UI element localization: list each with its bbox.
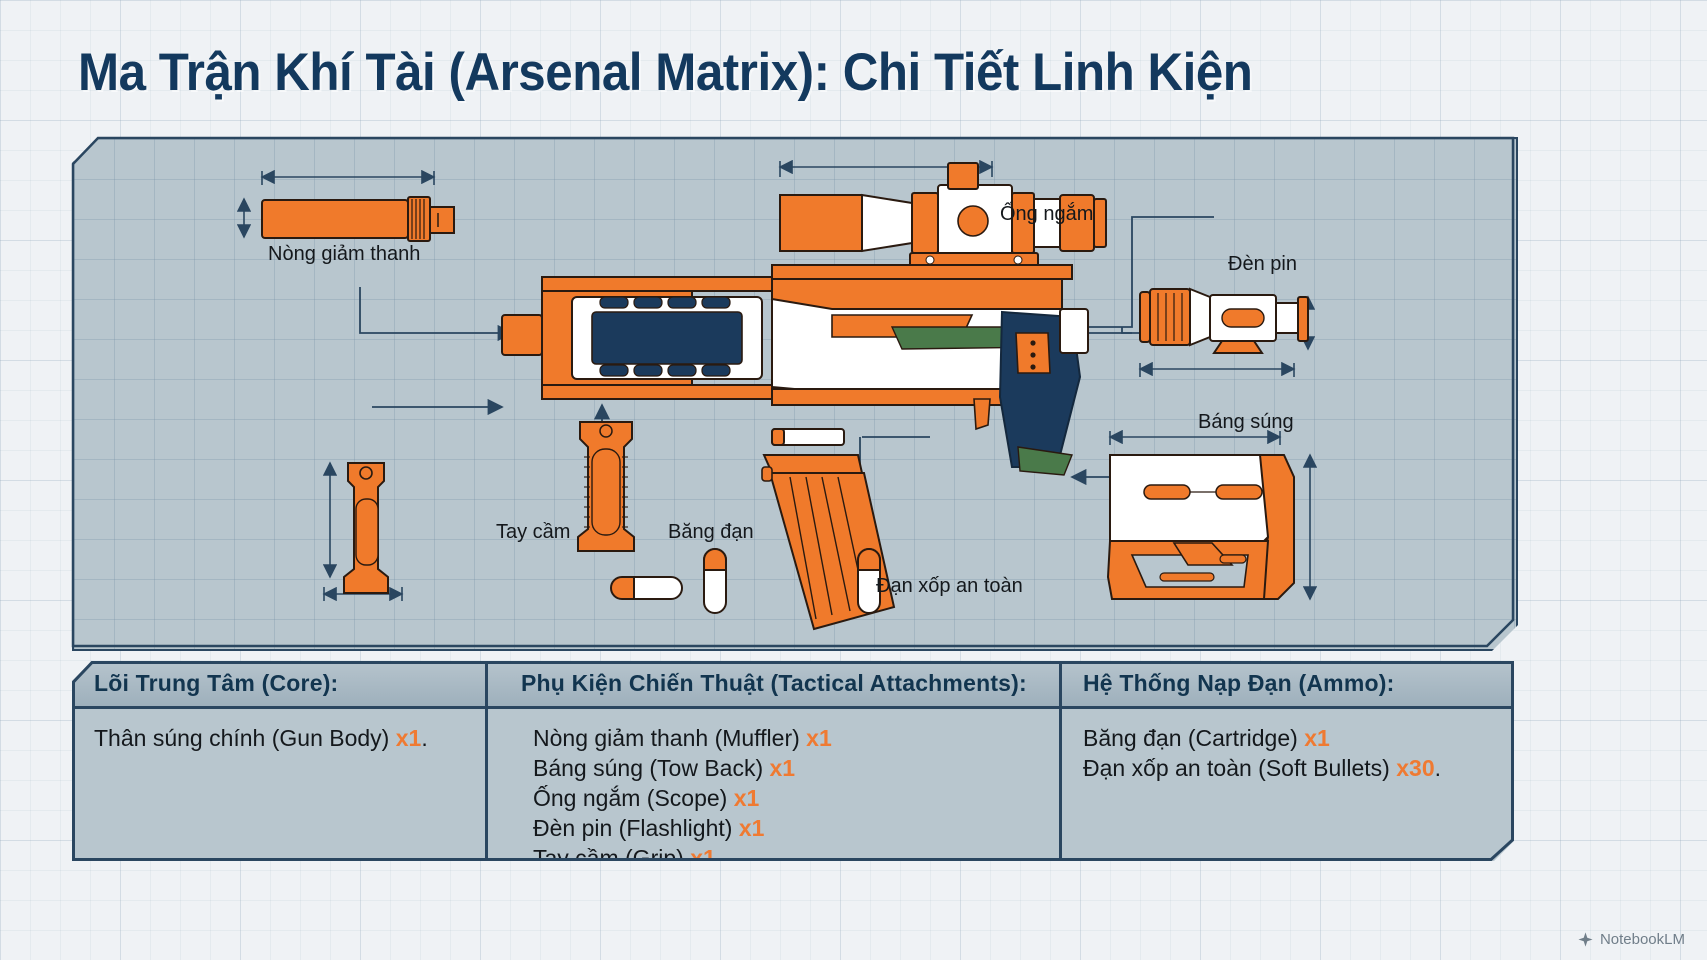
part-muffler bbox=[262, 197, 454, 241]
spec-column-ammo-header: Hệ Thống Nạp Đạn (Ammo): bbox=[1059, 661, 1514, 709]
spec-item-name: Tay cầm (Grip) bbox=[533, 845, 684, 871]
spec-item-name: Nòng giảm thanh (Muffler) bbox=[533, 725, 800, 751]
spec-column-core-body: Thân súng chính (Gun Body) x1. bbox=[72, 709, 485, 753]
part-stock bbox=[1108, 455, 1294, 599]
spec-item-name: Đạn xốp an toàn (Soft Bullets) bbox=[1083, 755, 1390, 781]
label-stock: Báng súng bbox=[1198, 411, 1294, 434]
spec-item-qty: x30 bbox=[1396, 755, 1434, 781]
spec-item-qty: x1 bbox=[806, 725, 832, 751]
spec-item-suffix: . bbox=[716, 845, 722, 871]
spec-item-name: Báng súng (Tow Back) bbox=[533, 755, 763, 781]
spec-column-core: Lõi Trung Tâm (Core): Thân súng chính (G… bbox=[72, 661, 485, 861]
spec-item-suffix: . bbox=[421, 725, 427, 751]
spec-item-qty: x1 bbox=[739, 815, 765, 841]
spec-item: Báng súng (Tow Back) x1 bbox=[533, 753, 1059, 783]
label-flashlight: Đèn pin bbox=[1228, 253, 1297, 276]
spec-column-tactical: Phụ Kiện Chiến Thuật (Tactical Attachmen… bbox=[485, 661, 1059, 861]
spec-item: Đạn xốp an toàn (Soft Bullets) x30. bbox=[1083, 753, 1514, 783]
notebooklm-icon bbox=[1577, 931, 1594, 948]
part-flashlight bbox=[1140, 289, 1308, 353]
spec-column-ammo: Hệ Thống Nạp Đạn (Ammo): Băng đạn (Cartr… bbox=[1059, 661, 1514, 861]
table-divider-1 bbox=[485, 661, 488, 861]
part-grip bbox=[578, 422, 634, 551]
label-soft-bullets: Đạn xốp an toàn bbox=[876, 575, 1023, 598]
notebooklm-watermark: NotebookLM bbox=[1577, 931, 1685, 948]
notebooklm-label: NotebookLM bbox=[1600, 931, 1685, 948]
bullet-vertical-1 bbox=[704, 549, 726, 613]
spec-item: Đèn pin (Flashlight) x1 bbox=[533, 813, 1059, 843]
spec-item-qty: x1 bbox=[770, 755, 796, 781]
label-scope: Ống ngắm bbox=[1000, 203, 1093, 226]
spec-item: Băng đạn (Cartridge) x1 bbox=[1083, 723, 1514, 753]
spec-item-qty: x1 bbox=[396, 725, 422, 751]
spec-item-suffix: . bbox=[1435, 755, 1441, 781]
exploded-diagram bbox=[72, 137, 1514, 647]
spec-item-qty: x1 bbox=[690, 845, 716, 871]
page-title: Ma Trận Khí Tài (Arsenal Matrix): Chi Ti… bbox=[78, 42, 1529, 103]
spec-column-tactical-header: Phụ Kiện Chiến Thuật (Tactical Attachmen… bbox=[485, 661, 1059, 709]
spec-item: Tay cầm (Grip) x1. bbox=[533, 843, 1059, 873]
part-grip-dimensioned bbox=[344, 463, 388, 593]
spec-item-name: Đèn pin (Flashlight) bbox=[533, 815, 732, 841]
spec-item-name: Băng đạn (Cartridge) bbox=[1083, 725, 1298, 751]
spec-item-qty: x1 bbox=[1304, 725, 1330, 751]
table-divider-2 bbox=[1059, 661, 1062, 861]
label-muffler: Nòng giảm thanh bbox=[268, 243, 420, 266]
bullet-horizontal bbox=[611, 577, 682, 599]
spec-item-name: Thân súng chính (Gun Body) bbox=[94, 725, 389, 751]
label-grip: Tay cầm bbox=[496, 521, 570, 544]
spec-column-tactical-body: Nòng giảm thanh (Muffler) x1 Báng súng (… bbox=[485, 709, 1059, 873]
spec-item-name: Ống ngắm (Scope) bbox=[533, 785, 727, 811]
spec-item: Thân súng chính (Gun Body) x1. bbox=[94, 723, 485, 753]
spec-column-core-header: Lõi Trung Tâm (Core): bbox=[72, 661, 485, 709]
spec-table: Lõi Trung Tâm (Core): Thân súng chính (G… bbox=[72, 661, 1514, 861]
spec-column-ammo-body: Băng đạn (Cartridge) x1 Đạn xốp an toàn … bbox=[1059, 709, 1514, 783]
label-cartridge: Băng đạn bbox=[668, 521, 754, 544]
spec-item-qty: x1 bbox=[734, 785, 760, 811]
spec-item: Nòng giảm thanh (Muffler) x1 bbox=[533, 723, 1059, 753]
infographic-page: Ma Trận Khí Tài (Arsenal Matrix): Chi Ti… bbox=[0, 0, 1707, 960]
spec-item: Ống ngắm (Scope) x1 bbox=[533, 783, 1059, 813]
